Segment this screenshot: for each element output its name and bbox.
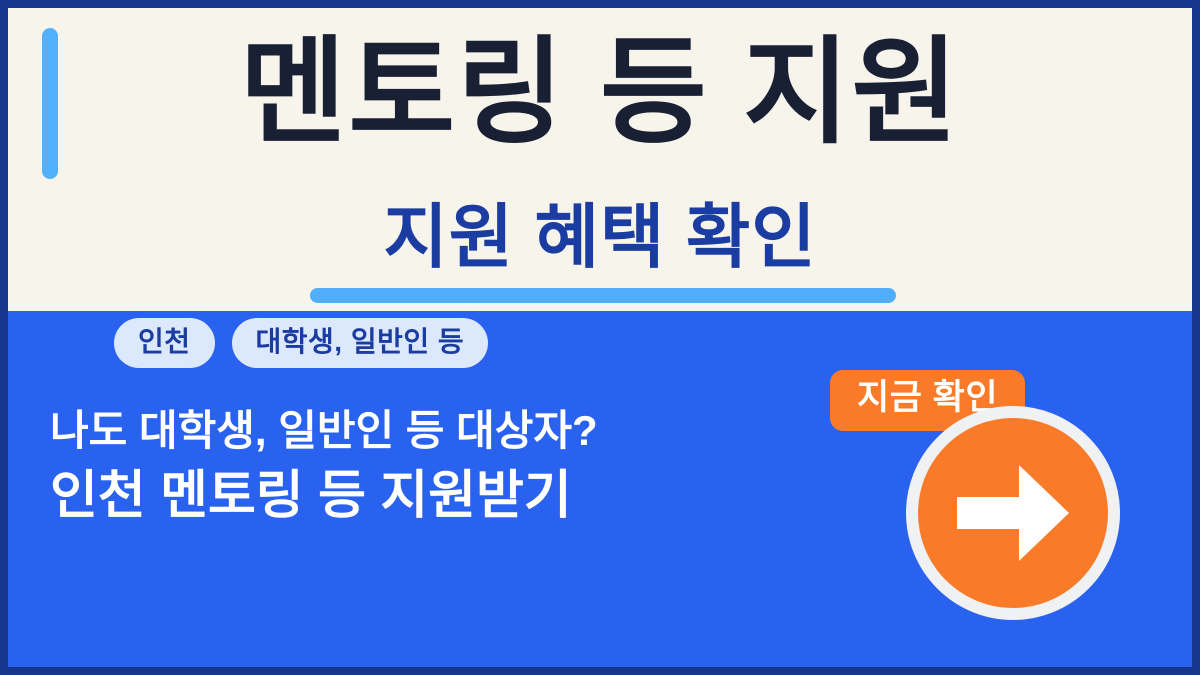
- badge-region: 인천: [114, 318, 215, 368]
- arrow-right-icon: [957, 461, 1069, 565]
- page-title: 멘토링 등 지원: [8, 34, 1192, 150]
- promo-headline-text: 인천 멘토링 등 지원받기: [50, 466, 598, 526]
- promo-copy: 나도 대학생, 일반인 등 대상자? 인천 멘토링 등 지원받기: [50, 406, 598, 526]
- badge-group: 인천 대학생, 일반인 등: [114, 318, 488, 368]
- subtitle-underline-decoration: [310, 288, 896, 303]
- cta-arrow-button[interactable]: [906, 406, 1120, 620]
- badge-audience: 대학생, 일반인 등: [232, 318, 489, 368]
- promo-question-text: 나도 대학생, 일반인 등 대상자?: [50, 406, 598, 456]
- subtitle-wrapper: 지원 혜택 확인: [8, 200, 1192, 276]
- promo-banner: 멘토링 등 지원 지원 혜택 확인 인천 대학생, 일반인 등 나도 대학생, …: [0, 0, 1200, 675]
- page-subtitle: 지원 혜택 확인: [371, 200, 828, 276]
- headline-panel: 멘토링 등 지원 지원 혜택 확인: [8, 8, 1192, 311]
